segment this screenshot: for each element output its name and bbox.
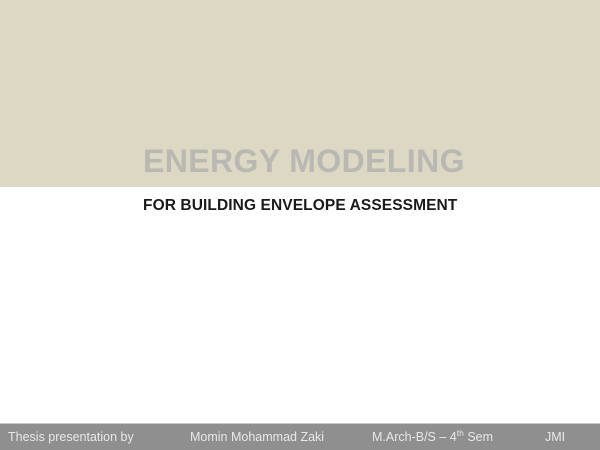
footer-course-prefix: M.Arch-B/S – 4 xyxy=(372,430,457,444)
page-subtitle: FOR BUILDING ENVELOPE ASSESSMENT xyxy=(143,196,457,215)
footer-institution: JMI xyxy=(545,430,565,445)
presentation-slide: ENERGY MODELING FOR BUILDING ENVELOPE AS… xyxy=(0,0,600,450)
slide-footer: Thesis presentation by Momin Mohammad Za… xyxy=(0,423,600,450)
footer-role-label: Thesis presentation by xyxy=(8,430,134,445)
footer-course: M.Arch-B/S – 4th Sem xyxy=(372,430,493,445)
slide-body-area xyxy=(0,187,600,423)
footer-course-ordinal: th xyxy=(457,428,464,438)
footer-course-suffix: Sem xyxy=(464,430,493,444)
page-title: ENERGY MODELING xyxy=(143,142,465,180)
footer-author-name: Momin Mohammad Zaki xyxy=(190,430,324,445)
